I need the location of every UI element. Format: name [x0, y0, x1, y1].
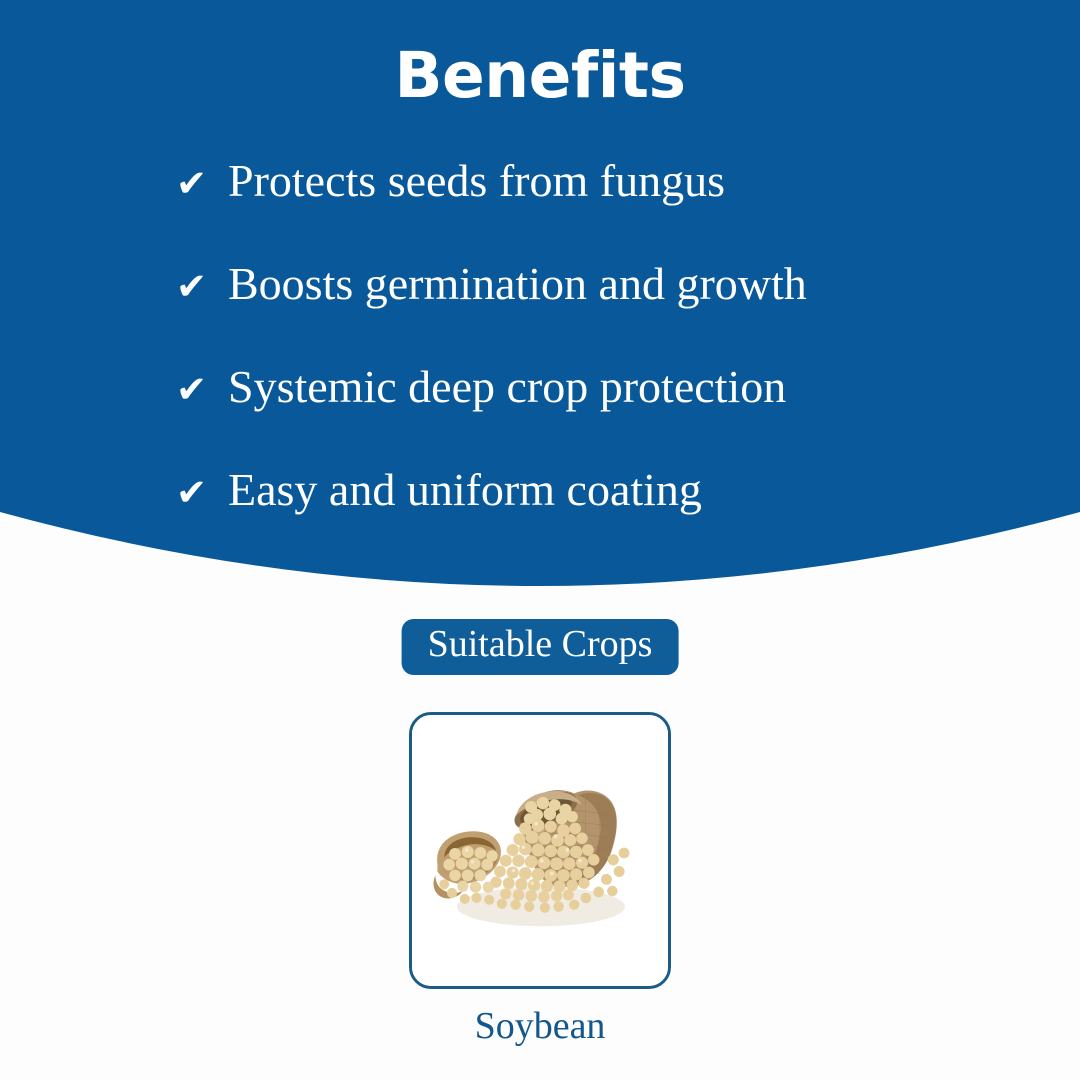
crop-caption-soybean: Soybean	[0, 1005, 1080, 1049]
benefit-item: ✔ Easy and uniform coating	[176, 467, 1036, 570]
checkmark-icon: ✔	[176, 474, 228, 511]
crop-card-soybean[interactable]	[409, 712, 671, 989]
page-title: Benefits	[0, 44, 1080, 107]
benefit-item: ✔ Protects seeds from fungus	[176, 158, 1036, 261]
benefit-label: Protects seeds from fungus	[228, 158, 725, 204]
benefit-label: Easy and uniform coating	[228, 467, 702, 513]
checkmark-icon: ✔	[176, 371, 228, 408]
benefits-hero-panel: Benefits ✔ Protects seeds from fungus ✔ …	[0, 0, 1080, 600]
benefit-item: ✔ Boosts germination and growth	[176, 261, 1036, 364]
benefit-label: Systemic deep crop protection	[228, 364, 786, 410]
suitable-crops-badge: Suitable Crops	[402, 619, 679, 675]
suitable-crops-section: Suitable Crops	[0, 600, 1080, 1080]
benefit-label: Boosts germination and growth	[228, 261, 807, 307]
checkmark-icon: ✔	[176, 165, 228, 202]
benefit-item: ✔ Systemic deep crop protection	[176, 364, 1036, 467]
benefits-list: ✔ Protects seeds from fungus ✔ Boosts ge…	[176, 158, 1036, 570]
soybean-photo	[412, 715, 668, 986]
checkmark-icon: ✔	[176, 268, 228, 305]
